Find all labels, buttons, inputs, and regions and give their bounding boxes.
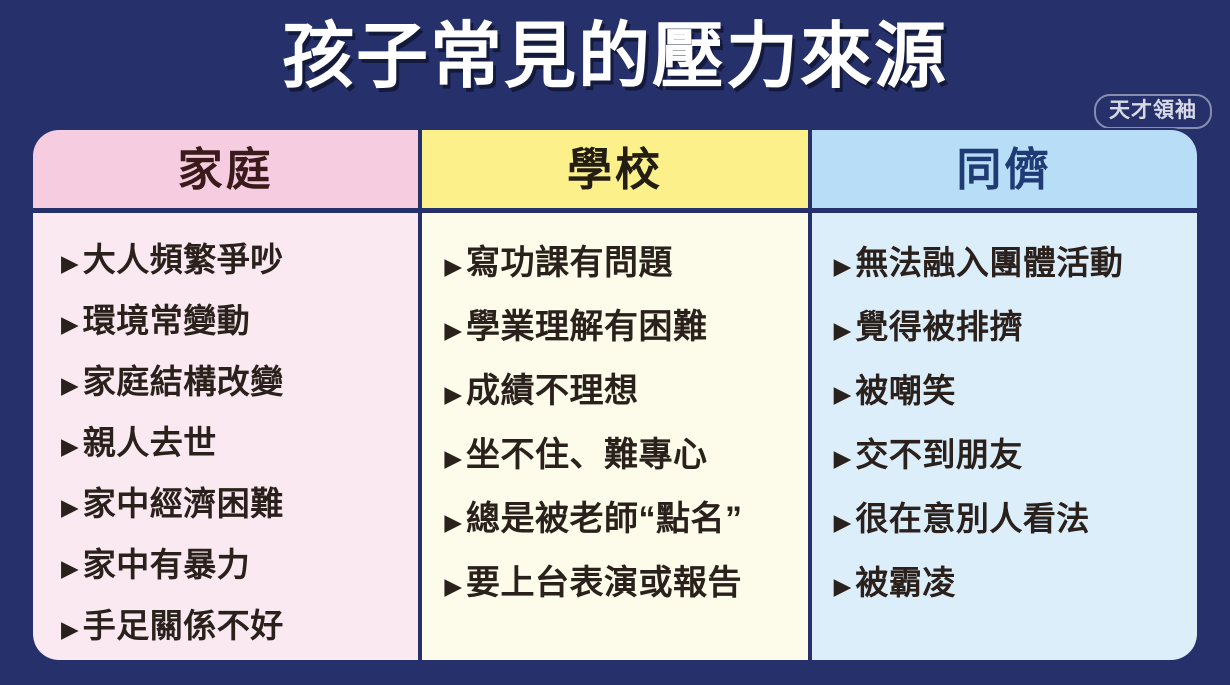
- column-header-family: 家庭: [33, 130, 418, 213]
- list-item: ▶ 手足關係不好: [61, 597, 418, 658]
- column-school: 學校 ▶ 寫功課有問題 ▶ 學業理解有困難 ▶ 成績不理想 ▶ 坐不住、難專心 …: [418, 130, 807, 660]
- list-item-label: 很在意別人看法: [855, 487, 1090, 551]
- list-item-label: 成績不理想: [466, 359, 639, 423]
- list-item: ▶ 家中有暴力: [61, 536, 418, 597]
- list-item: ▶ 交不到朋友: [834, 423, 1197, 487]
- list-item: ▶ 總是被老師“點名”: [444, 487, 807, 551]
- list-item-label: 覺得被排擠: [855, 295, 1023, 359]
- list-item-label: 家庭結構改變: [83, 353, 284, 411]
- column-family: 家庭 ▶ 大人頻繁爭吵 ▶ 環境常變動 ▶ 家庭結構改變 ▶ 親人去世 ▶ 家中…: [33, 130, 418, 660]
- list-item-label: 手足關係不好: [83, 597, 284, 655]
- triangle-bullet-icon: ▶: [834, 493, 852, 551]
- triangle-bullet-icon: ▶: [61, 600, 79, 658]
- list-item: ▶ 家中經濟困難: [61, 475, 418, 536]
- list-item-label: 交不到朋友: [855, 423, 1023, 487]
- list-item-label: 無法融入團體活動: [855, 231, 1123, 295]
- list-item: ▶ 學業理解有困難: [444, 295, 807, 359]
- list-item-label: 親人去世: [83, 414, 217, 472]
- stress-sources-table: 家庭 ▶ 大人頻繁爭吵 ▶ 環境常變動 ▶ 家庭結構改變 ▶ 親人去世 ▶ 家中…: [33, 130, 1197, 660]
- triangle-bullet-icon: ▶: [61, 356, 79, 414]
- list-item: ▶ 大人頻繁爭吵: [61, 231, 418, 292]
- triangle-bullet-icon: ▶: [444, 365, 462, 423]
- list-item-label: 家中有暴力: [83, 536, 251, 594]
- list-item-label: 學業理解有困難: [466, 295, 708, 359]
- list-item: ▶ 親人去世: [61, 414, 418, 475]
- triangle-bullet-icon: ▶: [444, 557, 462, 615]
- triangle-bullet-icon: ▶: [61, 234, 79, 292]
- title-bar: 孩子常見的壓力來源 天才領袖: [0, 0, 1230, 128]
- column-header-school: 學校: [422, 130, 807, 213]
- list-item: ▶ 家庭結構改變: [61, 353, 418, 414]
- triangle-bullet-icon: ▶: [61, 478, 79, 536]
- column-body-school: ▶ 寫功課有問題 ▶ 學業理解有困難 ▶ 成績不理想 ▶ 坐不住、難專心 ▶ 總…: [422, 213, 807, 660]
- column-body-family: ▶ 大人頻繁爭吵 ▶ 環境常變動 ▶ 家庭結構改變 ▶ 親人去世 ▶ 家中經濟困…: [33, 213, 418, 660]
- list-item: ▶ 坐不住、難專心: [444, 423, 807, 487]
- triangle-bullet-icon: ▶: [834, 301, 852, 359]
- triangle-bullet-icon: ▶: [444, 301, 462, 359]
- triangle-bullet-icon: ▶: [834, 557, 852, 615]
- triangle-bullet-icon: ▶: [444, 237, 462, 295]
- triangle-bullet-icon: ▶: [61, 417, 79, 475]
- column-body-peer: ▶ 無法融入團體活動 ▶ 覺得被排擠 ▶ 被嘲笑 ▶ 交不到朋友 ▶ 很在意別人…: [812, 213, 1197, 660]
- list-item: ▶ 很在意別人看法: [834, 487, 1197, 551]
- list-item: ▶ 成績不理想: [444, 359, 807, 423]
- triangle-bullet-icon: ▶: [444, 493, 462, 551]
- triangle-bullet-icon: ▶: [61, 295, 79, 353]
- list-item: ▶ 覺得被排擠: [834, 295, 1197, 359]
- column-peer: 同儕 ▶ 無法融入團體活動 ▶ 覺得被排擠 ▶ 被嘲笑 ▶ 交不到朋友 ▶ 很在…: [808, 130, 1197, 660]
- page-title: 孩子常見的壓力來源: [0, 14, 1230, 100]
- list-item-label: 被嘲笑: [855, 359, 956, 423]
- list-item-label: 要上台表演或報告: [466, 551, 742, 615]
- triangle-bullet-icon: ▶: [834, 429, 852, 487]
- list-item-label: 寫功課有問題: [466, 231, 673, 295]
- list-item-label: 家中經濟困難: [83, 475, 284, 533]
- list-item-label: 被霸凌: [855, 551, 956, 615]
- list-item-label: 坐不住、難專心: [466, 423, 708, 487]
- triangle-bullet-icon: ▶: [834, 237, 852, 295]
- watermark-badge: 天才領袖: [1094, 94, 1212, 129]
- list-item-label: 大人頻繁爭吵: [83, 231, 284, 289]
- triangle-bullet-icon: ▶: [834, 365, 852, 423]
- triangle-bullet-icon: ▶: [444, 429, 462, 487]
- list-item-label: 環境常變動: [83, 292, 251, 350]
- column-header-peer: 同儕: [812, 130, 1197, 213]
- list-item: ▶ 要上台表演或報告: [444, 551, 807, 615]
- triangle-bullet-icon: ▶: [61, 539, 79, 597]
- list-item-label: 總是被老師“點名”: [466, 487, 743, 551]
- list-item: ▶ 無法融入團體活動: [834, 231, 1197, 295]
- list-item: ▶ 被霸凌: [834, 551, 1197, 615]
- list-item: ▶ 被嘲笑: [834, 359, 1197, 423]
- list-item: ▶ 環境常變動: [61, 292, 418, 353]
- list-item: ▶ 寫功課有問題: [444, 231, 807, 295]
